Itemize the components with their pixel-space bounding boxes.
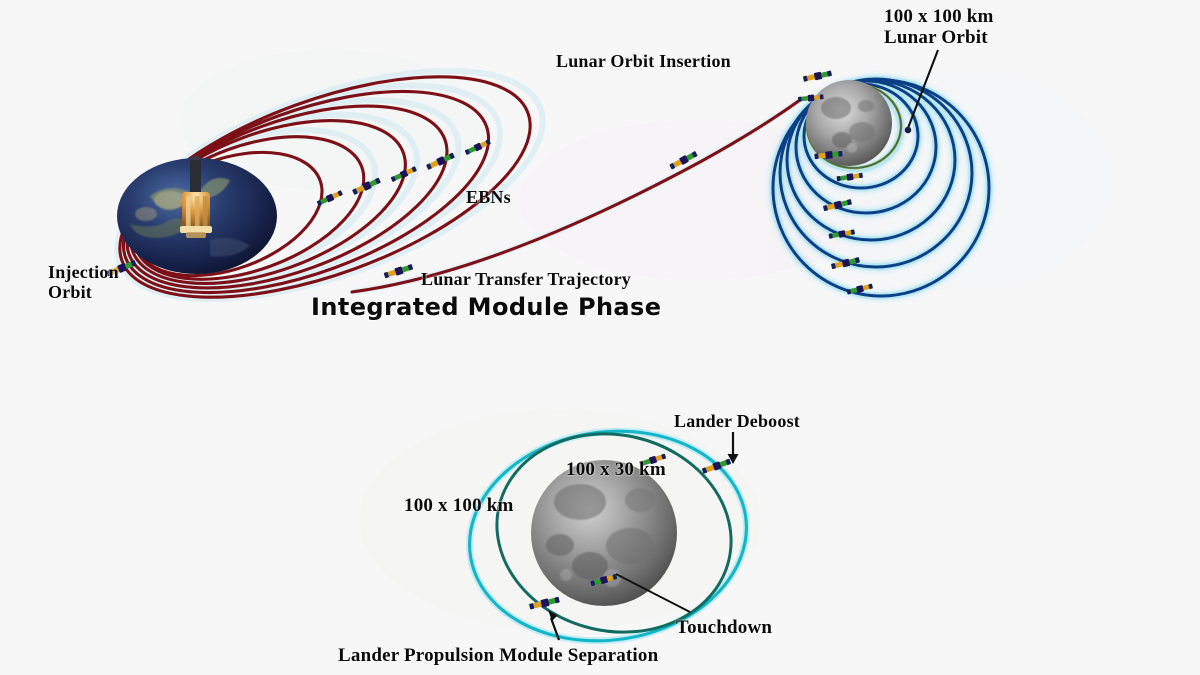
leader-dot (905, 127, 912, 134)
label-lander-deboost: Lander Deboost (674, 411, 800, 431)
moon-body-top (806, 80, 892, 166)
label-lunar-orbit-size: 100 x 100 km Lunar Orbit (884, 6, 994, 49)
label-integrated-module-phase: Integrated Module Phase (311, 294, 661, 321)
label-injection-orbit: Injection Orbit (48, 262, 119, 302)
spacecraft-icon (803, 70, 833, 83)
label-lunar-orbit-size-line1: 100 x 100 km (884, 6, 994, 27)
label-lunar-transfer-trajectory: Lunar Transfer Trajectory (421, 269, 631, 289)
label-ebns: EBNs (466, 187, 511, 207)
diagram-canvas (0, 0, 1200, 675)
label-lander-propulsion-module-separation: Lander Propulsion Module Separation (338, 645, 658, 666)
moon-body-bottom (531, 460, 677, 606)
label-injection-orbit-line1: Injection (48, 262, 119, 282)
label-orbit-100x100: 100 x 100 km (404, 495, 514, 516)
label-lunar-orbit-insertion: Lunar Orbit Insertion (556, 51, 731, 71)
label-injection-orbit-line2: Orbit (48, 282, 119, 302)
mission-diagram: 100 x 100 km Lunar Orbit Lunar Orbit Ins… (0, 0, 1200, 675)
label-lunar-orbit-size-line2: Lunar Orbit (884, 27, 994, 48)
label-touchdown: Touchdown (676, 617, 772, 638)
spacecraft-icon (383, 263, 413, 279)
label-orbit-100x30: 100 x 30 km (566, 459, 666, 480)
